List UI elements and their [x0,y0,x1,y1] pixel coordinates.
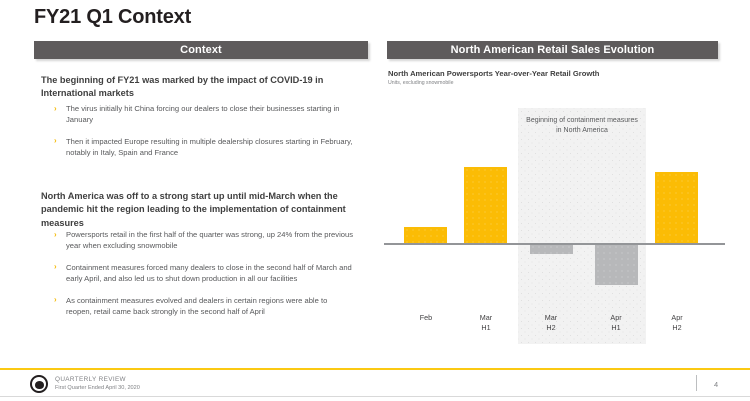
x-axis-label-mar-h1: Mar H1 [456,313,516,334]
x-axis-label-mar-h2: Mar H2 [521,313,581,334]
bullet-list-1: › The virus initially hit China forcing … [54,103,354,169]
lead-paragraph-1: The beginning of FY21 was marked by the … [41,74,359,101]
footer-divider [696,375,697,391]
bar-chart: Beginning of containment measures in Nor… [380,100,730,350]
footer-title: QUARTERLY REVIEW [55,376,126,383]
chevron-right-icon: › [54,261,57,273]
containment-annotation-text: Beginning of containment measures in Nor… [526,116,638,136]
x-axis-label-mar-h2-line1: Mar [521,313,581,323]
x-axis-label-apr-h1-line2: H1 [586,323,646,333]
chart-subtitle: Units, excluding snowmobile [388,80,453,86]
list-item-text: Then it impacted Europe resulting in mul… [66,137,352,157]
chevron-right-icon: › [54,135,57,147]
list-item-text: Powersports retail in the first half of … [66,230,353,250]
page-number: 4 [706,380,726,389]
page-title: FY21 Q1 Context [34,6,191,29]
x-axis-label-feb-line1: Feb [396,313,456,323]
zero-axis-line [384,243,725,245]
chevron-right-icon: › [54,229,57,241]
brp-logo-icon [30,375,48,393]
section-header-retail-sales: North American Retail Sales Evolution [387,41,718,59]
list-item: › Containment measures forced many deale… [54,262,354,285]
section-header-context: Context [34,41,368,59]
list-item-text: The virus initially hit China forcing ou… [66,104,340,124]
x-axis-label-mar-h1-line1: Mar [456,313,516,323]
bar-mar-h1 [464,167,507,243]
section-header-context-label: Context [180,44,222,56]
containment-shaded-band [518,108,646,344]
x-axis-label-apr-h1-line1: Apr [586,313,646,323]
x-axis-label-apr-h2-line1: Apr [647,313,707,323]
bar-feb [404,227,447,243]
footer-bottom-rule [0,396,750,397]
list-item: › Then it impacted Europe resulting in m… [54,136,354,159]
list-item: › Powersports retail in the first half o… [54,229,354,252]
list-item-text: Containment measures forced many dealers… [66,263,352,283]
chart-title: North American Powersports Year-over-Yea… [388,69,599,78]
chevron-right-icon: › [54,294,57,306]
section-header-retail-sales-label: North American Retail Sales Evolution [451,44,655,56]
list-item: › As containment measures evolved and de… [54,295,354,318]
lead-paragraph-2: North America was off to a strong start … [41,190,359,230]
bar-mar-h2 [530,244,573,254]
bullet-list-2: › Powersports retail in the first half o… [54,229,354,327]
bar-apr-h1 [595,244,638,285]
x-axis-label-apr-h2-line2: H2 [647,323,707,333]
list-item: › The virus initially hit China forcing … [54,103,354,126]
x-axis-label-feb: Feb [396,313,456,323]
chevron-right-icon: › [54,103,57,115]
list-item-text: As containment measures evolved and deal… [66,296,327,316]
footer-accent-rule [0,368,750,370]
bar-apr-h2 [655,172,698,243]
slide-canvas: FY21 Q1 Context Context The beginning of… [0,0,750,401]
x-axis-label-apr-h1: Apr H1 [586,313,646,334]
x-axis-label-mar-h1-line2: H1 [456,323,516,333]
footer-subtitle: First Quarter Ended April 30, 2020 [55,385,140,391]
x-axis-label-mar-h2-line2: H2 [521,323,581,333]
x-axis-label-apr-h2: Apr H2 [647,313,707,334]
